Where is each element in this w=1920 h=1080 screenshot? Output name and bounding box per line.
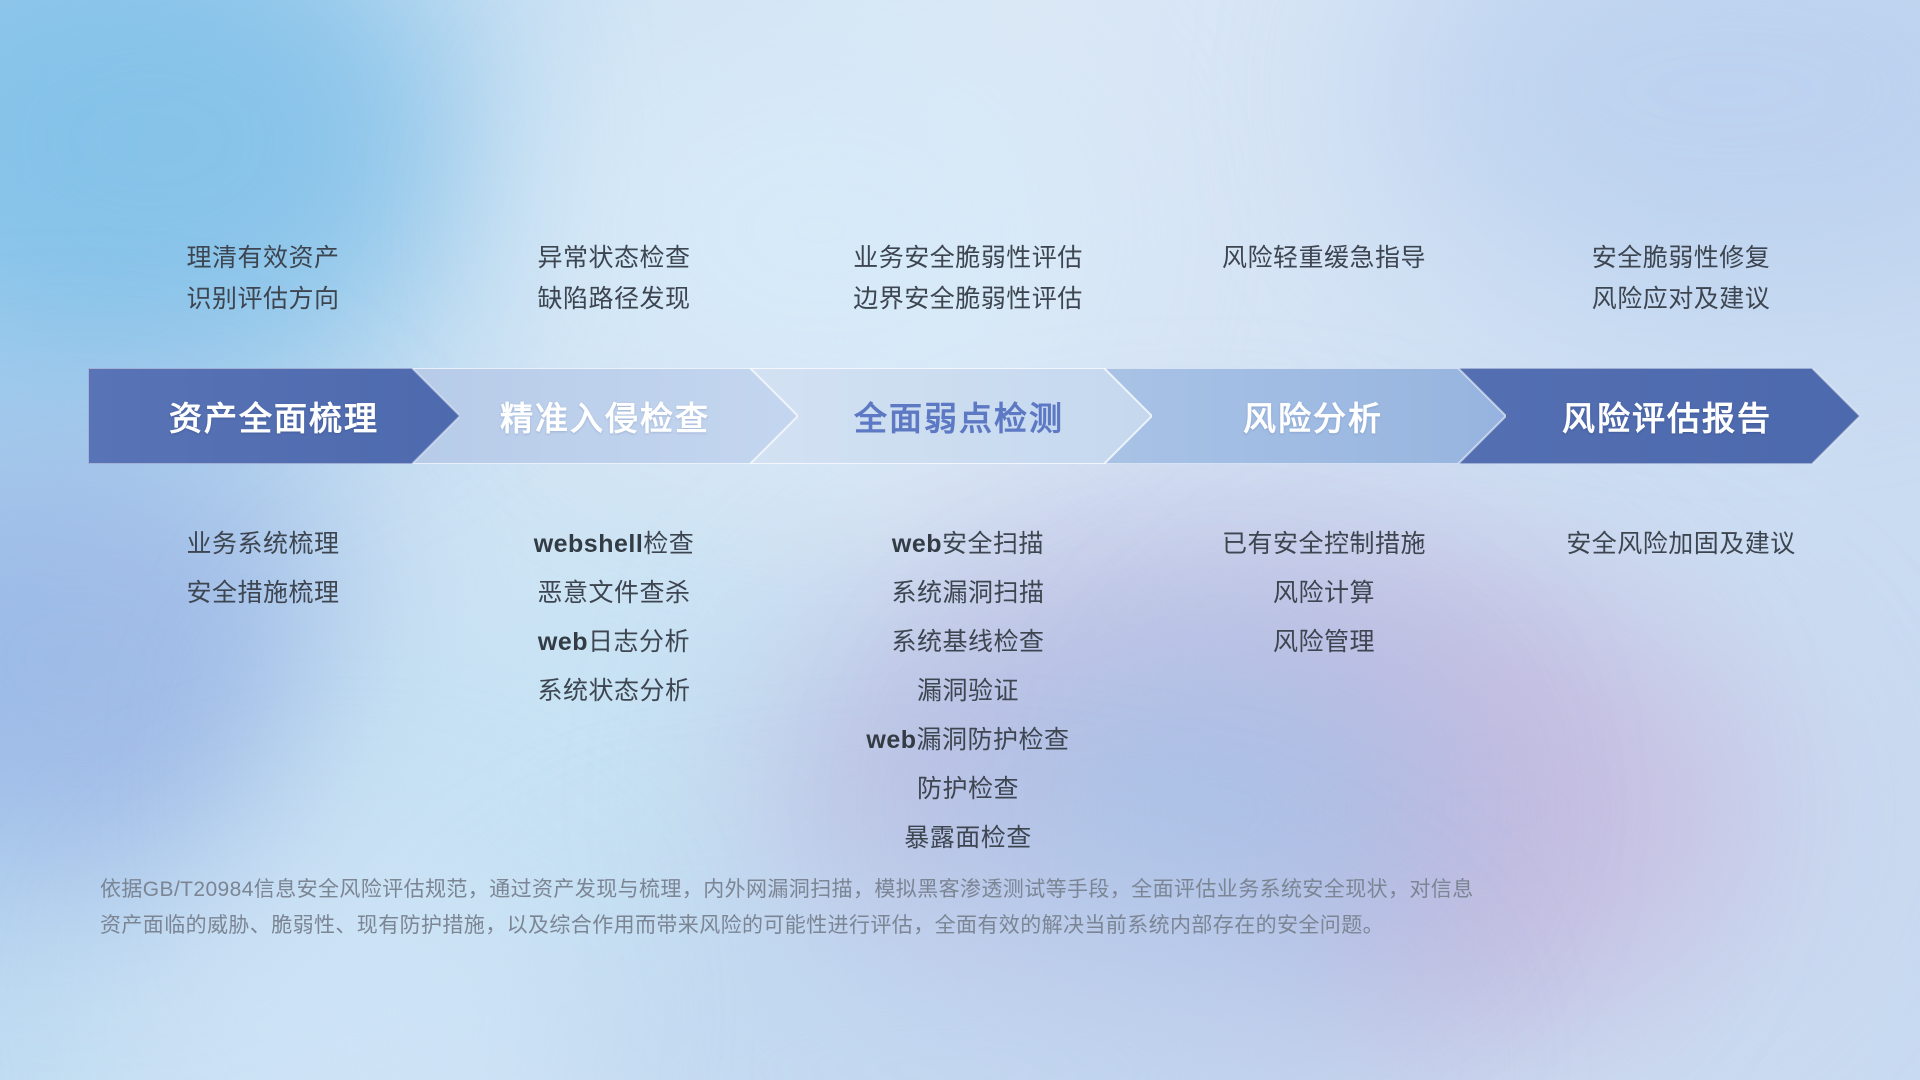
bottom-caption-item: 暴露面检查 <box>904 814 1032 863</box>
bottom-caption-item: 恶意文件查杀 <box>537 569 690 618</box>
bottom-caption-rest: 暴露面检查 <box>904 824 1032 852</box>
bottom-caption-rest: 安全扫描 <box>942 530 1044 558</box>
bottom-caption-rest: 系统漏洞扫描 <box>891 579 1044 607</box>
bottom-caption-item: 风险管理 <box>1273 618 1375 667</box>
top-caption-group-4: 风险轻重缓急指导 <box>1146 238 1502 279</box>
bottom-caption-rest: 恶意文件查杀 <box>537 579 690 607</box>
top-caption-group-2: 异常状态检查 缺陷路径发现 <box>438 238 790 319</box>
bottom-caption-item: 系统漏洞扫描 <box>891 569 1044 618</box>
top-caption-item: 安全脆弱性修复 <box>1592 238 1771 279</box>
bottom-caption-item: 防护检查 <box>917 765 1019 814</box>
bottom-caption-item: web漏洞防护检查 <box>866 716 1069 765</box>
bottom-caption-item: 系统基线检查 <box>891 618 1044 667</box>
bottom-caption-rest: 已有安全控制措施 <box>1222 530 1426 558</box>
top-caption-item: 缺陷路径发现 <box>537 279 690 320</box>
bottom-caption-group-5: 安全风险加固及建议 <box>1502 520 1860 569</box>
description-line: 资产面临的威胁、脆弱性、现有防护措施，以及综合作用而带来风险的可能性进行评估，全… <box>100 908 1620 944</box>
description-line: 依据GB/T20984信息安全风险评估规范，通过资产发现与梳理，内外网漏洞扫描，… <box>100 872 1620 908</box>
bottom-captions-row: 业务系统梳理 安全措施梳理 webshell检查 恶意文件查杀 web日志分析 … <box>88 520 1860 863</box>
top-caption-item: 风险轻重缓急指导 <box>1222 238 1426 279</box>
bottom-caption-item: webshell检查 <box>534 520 695 569</box>
bottom-caption-rest: 风险计算 <box>1273 579 1375 607</box>
process-arrow-band: 风险评估报告 风险分析 <box>0 368 1920 464</box>
process-stage-1[interactable]: 资产全面梳理 <box>88 368 460 464</box>
bottom-caption-group-4: 已有安全控制措施 风险计算 风险管理 <box>1146 520 1502 667</box>
bottom-caption-rest: 漏洞验证 <box>917 677 1019 705</box>
bottom-caption-group-2: webshell检查 恶意文件查杀 web日志分析 系统状态分析 <box>438 520 790 716</box>
top-captions-row: 理清有效资产 识别评估方向 异常状态检查 缺陷路径发现 业务安全脆弱性评估 边界… <box>88 238 1860 319</box>
top-caption-item: 识别评估方向 <box>186 279 339 320</box>
process-stage-label: 资产全面梳理 <box>88 392 460 440</box>
bottom-caption-bold: web <box>866 726 916 754</box>
bottom-caption-rest: 安全措施梳理 <box>186 579 339 607</box>
bottom-caption-rest: 检查 <box>643 530 694 558</box>
bottom-caption-rest: 日志分析 <box>588 628 690 656</box>
top-caption-item: 边界安全脆弱性评估 <box>853 279 1083 320</box>
bottom-caption-item: 安全风险加固及建议 <box>1566 520 1796 569</box>
bottom-caption-rest: 漏洞防护检查 <box>917 726 1070 754</box>
bottom-caption-rest: 系统状态分析 <box>537 677 690 705</box>
bottom-caption-rest: 业务系统梳理 <box>186 530 339 558</box>
bottom-caption-bold: web <box>538 628 588 656</box>
top-caption-item: 业务安全脆弱性评估 <box>853 238 1083 279</box>
bottom-caption-bold: web <box>892 530 942 558</box>
bottom-caption-group-3: web安全扫描 系统漏洞扫描 系统基线检查 漏洞验证 web漏洞防护检查 防护检… <box>790 520 1146 863</box>
bottom-caption-item: 漏洞验证 <box>917 667 1019 716</box>
top-caption-group-1: 理清有效资产 识别评估方向 <box>88 238 438 319</box>
top-caption-item: 异常状态检查 <box>537 238 690 279</box>
bottom-caption-rest: 安全风险加固及建议 <box>1566 530 1796 558</box>
bottom-caption-rest: 防护检查 <box>917 775 1019 803</box>
description-paragraph: 依据GB/T20984信息安全风险评估规范，通过资产发现与梳理，内外网漏洞扫描，… <box>100 872 1620 944</box>
top-caption-group-5: 安全脆弱性修复 风险应对及建议 <box>1502 238 1860 319</box>
bottom-caption-item: web日志分析 <box>538 618 690 667</box>
bottom-caption-bold: webshell <box>534 530 644 558</box>
bottom-caption-item: 业务系统梳理 <box>186 520 339 569</box>
bottom-caption-rest: 系统基线检查 <box>891 628 1044 656</box>
top-caption-item: 风险应对及建议 <box>1592 279 1771 320</box>
bottom-caption-item: 风险计算 <box>1273 569 1375 618</box>
top-caption-group-3: 业务安全脆弱性评估 边界安全脆弱性评估 <box>790 238 1146 319</box>
bottom-caption-rest: 风险管理 <box>1273 628 1375 656</box>
bottom-caption-group-1: 业务系统梳理 安全措施梳理 <box>88 520 438 618</box>
bottom-caption-item: 系统状态分析 <box>537 667 690 716</box>
bottom-caption-item: 已有安全控制措施 <box>1222 520 1426 569</box>
bottom-caption-item: web安全扫描 <box>892 520 1044 569</box>
top-caption-item: 理清有效资产 <box>186 238 339 279</box>
bottom-caption-item: 安全措施梳理 <box>186 569 339 618</box>
